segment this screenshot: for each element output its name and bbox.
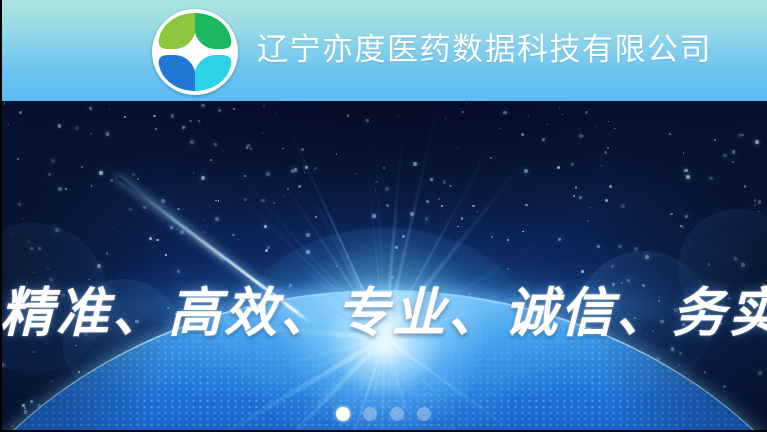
star (355, 173, 357, 175)
star (573, 195, 575, 197)
star (503, 111, 506, 114)
star (182, 126, 185, 129)
star (291, 169, 294, 172)
star (575, 186, 578, 189)
star (336, 153, 338, 155)
star (90, 133, 92, 135)
star (601, 165, 602, 166)
star (723, 154, 727, 158)
star (109, 109, 110, 110)
star (294, 168, 297, 171)
star (246, 146, 249, 149)
star (604, 151, 607, 154)
company-name-title: 辽宁亦度医药数据科技有限公司 (257, 29, 712, 71)
star (190, 141, 191, 142)
star (314, 167, 317, 170)
star (51, 159, 55, 163)
star (686, 175, 690, 179)
star (449, 185, 452, 188)
company-logo[interactable] (152, 9, 238, 95)
star (124, 116, 126, 118)
banner-page: 辽宁亦度医药数据科技有限公司 精准、高效、专业、诚信、务实 (0, 0, 767, 432)
star (106, 132, 109, 135)
star (247, 144, 250, 147)
star (557, 166, 560, 169)
star (244, 175, 246, 177)
carousel-dot-3[interactable] (390, 407, 404, 421)
star (210, 159, 212, 161)
star (490, 157, 492, 159)
star (304, 172, 305, 173)
star (732, 150, 736, 154)
star (524, 169, 528, 173)
star (201, 176, 205, 180)
hero-slogan: 精准、高效、专业、诚信、务实 (0, 283, 767, 343)
star (445, 118, 446, 119)
star (741, 134, 744, 137)
star (571, 163, 575, 167)
star (732, 161, 735, 164)
star (189, 120, 192, 123)
star (562, 114, 563, 115)
site-header: 辽宁亦度医药数据科技有限公司 (0, 0, 767, 101)
star (276, 113, 277, 114)
star (684, 169, 687, 172)
star (366, 119, 369, 122)
star (17, 158, 19, 160)
star (48, 173, 51, 176)
star (559, 107, 560, 108)
star (210, 110, 211, 111)
star (155, 128, 157, 130)
star (81, 166, 83, 168)
carousel-dot-4[interactable] (417, 407, 431, 421)
star (457, 147, 459, 149)
star (383, 167, 385, 169)
star (99, 171, 103, 175)
logo-circle-background (152, 9, 238, 95)
star (65, 188, 67, 190)
star (266, 172, 270, 176)
star (171, 114, 175, 118)
star (443, 180, 447, 184)
star (347, 114, 349, 116)
star (137, 178, 138, 179)
star (249, 147, 253, 151)
star (738, 133, 742, 137)
star (193, 172, 195, 174)
star (614, 128, 616, 130)
star (298, 185, 301, 188)
star (596, 126, 597, 127)
star (609, 185, 612, 188)
star (58, 124, 62, 128)
star (755, 140, 759, 144)
star (284, 108, 285, 109)
star (462, 111, 465, 114)
star (89, 107, 92, 110)
carousel-dot-1[interactable] (336, 407, 350, 421)
star (19, 111, 22, 114)
star (58, 187, 62, 191)
star (110, 179, 113, 182)
star (466, 103, 467, 104)
star (542, 138, 545, 141)
star (153, 115, 156, 118)
star (547, 124, 548, 125)
star (669, 133, 671, 135)
star (218, 109, 221, 112)
star (262, 132, 264, 134)
star (301, 148, 304, 151)
star (430, 178, 433, 181)
star (714, 139, 716, 141)
star (397, 115, 399, 117)
star (582, 135, 584, 137)
star (607, 147, 609, 149)
star (91, 185, 92, 186)
star (198, 120, 200, 122)
star (8, 124, 9, 125)
star (282, 148, 284, 150)
star (579, 134, 583, 138)
star (744, 185, 746, 187)
star (75, 126, 79, 130)
star (201, 104, 204, 107)
star (683, 152, 685, 154)
star (3, 102, 6, 105)
star (413, 162, 417, 166)
star (207, 125, 208, 126)
star (585, 111, 587, 113)
star (709, 177, 712, 180)
star (521, 133, 524, 136)
star (214, 143, 217, 146)
logo-petals-icon (152, 9, 238, 95)
star (190, 140, 194, 144)
star (263, 105, 265, 107)
hero-banner: 精准、高效、专业、诚信、务实 (0, 101, 767, 432)
star (132, 173, 136, 177)
star (528, 116, 529, 117)
star (608, 121, 609, 122)
carousel-dots (0, 407, 767, 421)
carousel-dot-2[interactable] (363, 407, 377, 421)
star (233, 108, 235, 110)
star (678, 195, 679, 196)
